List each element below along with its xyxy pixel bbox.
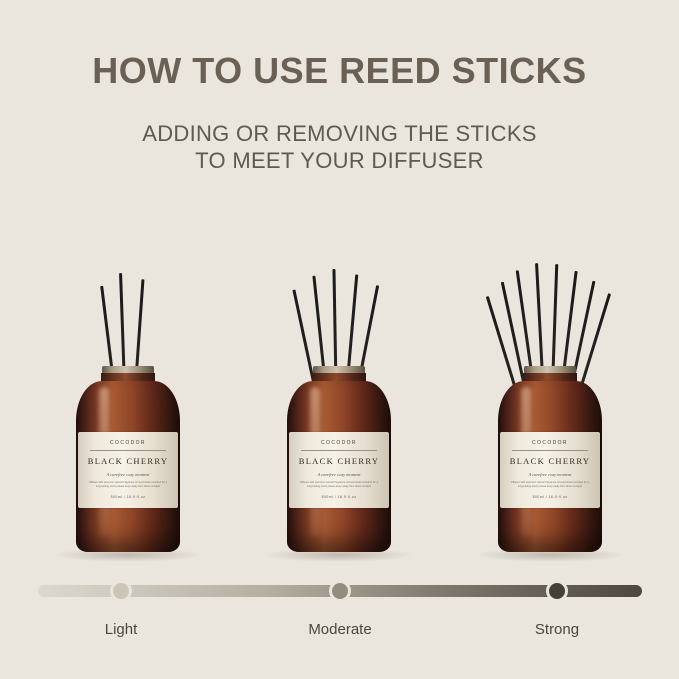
- label-description: Diffuser with premium natural fragrance …: [500, 481, 600, 489]
- page-subtitle: ADDING OR REMOVING THE STICKS TO MEET YO…: [0, 120, 679, 174]
- label-tagline: A carefree cozy moment: [78, 472, 178, 477]
- bottle: COCODOR BLACK CHERRY A carefree cozy mom…: [498, 340, 602, 552]
- diffuser-moderate: COCODOR BLACK CHERRY A carefree cozy mom…: [239, 200, 439, 560]
- page-title: HOW TO USE REED STICKS: [0, 50, 679, 92]
- bottle: COCODOR BLACK CHERRY A carefree cozy mom…: [287, 340, 391, 552]
- label-volume: 500ml / 16.9 fl.oz: [289, 495, 389, 499]
- subtitle-line-1: ADDING OR REMOVING THE STICKS: [0, 120, 679, 147]
- label-divider: [90, 450, 166, 451]
- label-divider: [512, 450, 588, 451]
- slider-label-moderate: Moderate: [260, 621, 420, 638]
- bottle-label: COCODOR BLACK CHERRY A carefree cozy mom…: [500, 432, 600, 508]
- slider-label-light: Light: [41, 621, 201, 638]
- slider-knob-light[interactable]: [110, 580, 132, 602]
- label-description: Diffuser with premium natural fragrance …: [289, 481, 389, 489]
- label-scent-name: BLACK CHERRY: [289, 456, 389, 466]
- label-description: Diffuser with premium natural fragrance …: [78, 481, 178, 489]
- bottle-cap: [106, 340, 150, 368]
- label-brand: COCODOR: [500, 440, 600, 446]
- diffuser-strong: COCODOR BLACK CHERRY A carefree cozy mom…: [450, 200, 650, 560]
- label-brand: COCODOR: [289, 440, 389, 446]
- bottle-cap: [528, 340, 572, 368]
- bottle-label: COCODOR BLACK CHERRY A carefree cozy mom…: [78, 432, 178, 508]
- label-volume: 500ml / 16.9 fl.oz: [78, 495, 178, 499]
- bottle-cap: [317, 340, 361, 368]
- label-tagline: A carefree cozy moment: [500, 472, 600, 477]
- infographic-canvas: HOW TO USE REED STICKS ADDING OR REMOVIN…: [0, 0, 679, 679]
- subtitle-line-2: TO MEET YOUR DIFFUSER: [0, 147, 679, 174]
- label-scent-name: BLACK CHERRY: [500, 456, 600, 466]
- bottle: COCODOR BLACK CHERRY A carefree cozy mom…: [76, 340, 180, 552]
- slider-knob-strong[interactable]: [546, 580, 568, 602]
- slider-label-strong: Strong: [477, 621, 637, 638]
- label-volume: 500ml / 16.9 fl.oz: [500, 495, 600, 499]
- label-brand: COCODOR: [78, 440, 178, 446]
- label-tagline: A carefree cozy moment: [289, 472, 389, 477]
- diffuser-light: COCODOR BLACK CHERRY A carefree cozy mom…: [28, 200, 228, 560]
- bottle-label: COCODOR BLACK CHERRY A carefree cozy mom…: [289, 432, 389, 508]
- label-scent-name: BLACK CHERRY: [78, 456, 178, 466]
- slider-knob-moderate[interactable]: [329, 580, 351, 602]
- label-divider: [301, 450, 377, 451]
